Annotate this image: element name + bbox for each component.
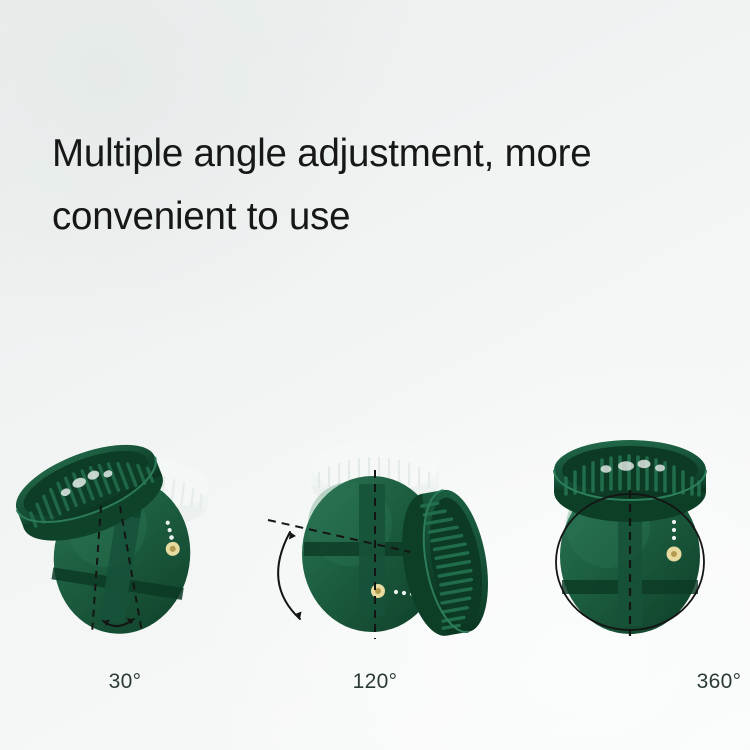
angle-panel-30: 30°	[0, 414, 250, 714]
fan-illustration-120	[250, 414, 500, 654]
fan-illustration-30	[0, 414, 250, 654]
fan-illustration-360	[500, 414, 750, 654]
angle-panel-360: 360°	[500, 414, 750, 714]
angle-panel-120: 120°	[250, 414, 500, 714]
headline-text: Multiple angle adjustment, more convenie…	[52, 122, 712, 248]
angle-panels: 30°	[0, 414, 750, 714]
caption-120: 120°	[250, 670, 510, 694]
caption-360: 360°	[500, 670, 750, 694]
product-feature-image: Multiple angle adjustment, more convenie…	[0, 0, 750, 750]
